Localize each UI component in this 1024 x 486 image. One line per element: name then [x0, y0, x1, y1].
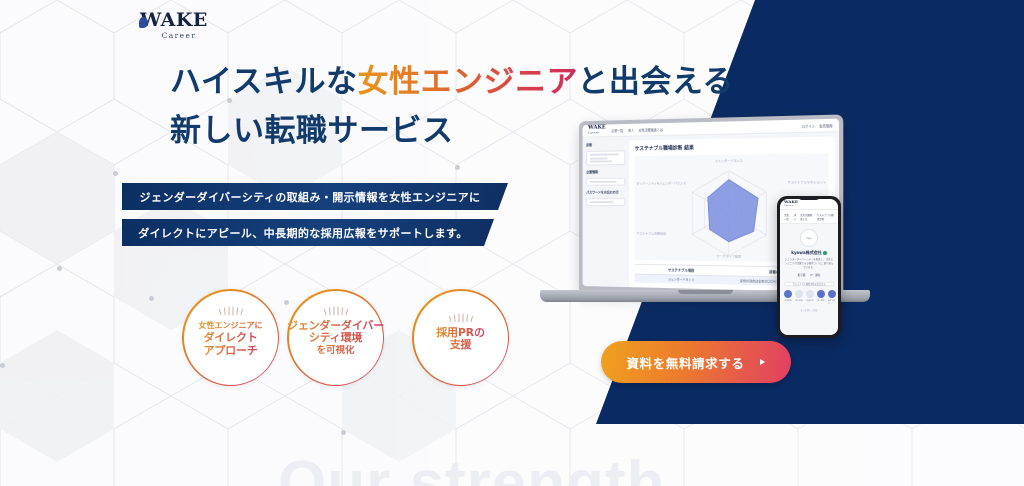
phone-icon-item[interactable]: 求人情報	[795, 290, 803, 305]
sparkle-icon	[218, 306, 244, 317]
banner-message-2: ダイレクトにアピール、中長期的な採用広報をサポートします。	[122, 219, 494, 246]
company-name: kyowa株式会社	[791, 250, 826, 256]
dashboard-nav-item[interactable]: 企業一覧	[611, 127, 623, 132]
phone-icon-label: 求人情報	[795, 299, 802, 302]
radar-axis-label: サステナブル労務環境	[637, 230, 666, 235]
phone-nav-items: 企業一覧 求人 女性活躍推進とは サステナブル職場診断	[780, 210, 838, 224]
headline-line1-pre: ハイスキルな	[170, 64, 357, 100]
hex-vertex-dot	[284, 300, 289, 305]
radar-axis-label: ワークライフ環境	[716, 253, 741, 258]
feature-circle-3[interactable]: 採用PRの 支援	[412, 289, 509, 386]
hex-vertex-dot	[0, 363, 5, 368]
dashboard-logo-sub: Career	[588, 130, 606, 135]
headline-accent: 女性エンジニア	[357, 64, 577, 100]
sidebar-line	[589, 201, 613, 203]
sparkle-icon	[448, 313, 474, 324]
sidebar-group-3-title: パスワードをお忘れの方	[586, 189, 625, 194]
dashboard-nav-item[interactable]: 女性活躍推進とは	[639, 127, 663, 132]
phone-nav-item[interactable]: 女性活躍推進とは	[800, 213, 814, 221]
phone-content: logo kyowa株式会社 ジェンダーダイバーシティを推進し、 女性エンジニア…	[780, 224, 838, 335]
cta-label: 資料を無料請求する	[627, 353, 745, 372]
dashboard-nav-item[interactable]: 求人	[628, 127, 634, 132]
radar-axis-label: ジェンダーバランス	[715, 157, 743, 162]
dashboard-sidebar: 診断 企業情報 パスワードをお忘れの方	[583, 137, 629, 288]
phone-icon-label: 社員の声	[806, 299, 813, 302]
company-tag: 東京都	[798, 273, 806, 277]
laptop-hinge-notch	[678, 290, 733, 294]
phone-logo-sub: Career	[784, 204, 798, 208]
phone-icon-row: 企業情報 求人情報 社員の声 働く環境 数字で見る	[784, 290, 834, 305]
hex-vertex-dot	[113, 171, 118, 176]
phone-nav-item[interactable]: 企業一覧	[784, 213, 791, 221]
diagnosis-status-bar: サステナブル職場診断を受診済み	[784, 282, 834, 286]
company-tags: 東京都 IT・通信	[798, 273, 821, 277]
hex-vertex-dot	[341, 430, 346, 435]
phone-icon-label: 数字で見る	[828, 299, 836, 305]
headline-line1-post: と出会える	[577, 64, 734, 100]
feature-2-line-2: シティ環境	[287, 332, 384, 345]
radar-axis-label: サステナブルマネジメント	[788, 179, 827, 184]
logo-tagline: Career	[140, 31, 218, 40]
phone-icon-label: 企業情報	[784, 299, 791, 302]
hex-vertex-dot	[455, 165, 460, 170]
dashboard-title: サステナブル職場診断 結果	[635, 142, 829, 152]
phone-icon-item[interactable]: 働く環境	[817, 290, 825, 305]
phone-logo: WAKE Career	[784, 200, 798, 208]
phone-icon-item[interactable]: 企業情報	[784, 290, 792, 305]
logo-blob-icon	[139, 17, 148, 28]
phone-footer-link[interactable]: もっと詳しく見る	[800, 308, 818, 312]
phone-mockup: WAKE Career 企業一覧 求人 女性活躍推進とは サステナブル職場診断 …	[777, 196, 841, 338]
sidebar-line	[589, 160, 612, 162]
play-arrow-icon	[760, 359, 765, 365]
sidebar-group-3-box[interactable]	[586, 198, 625, 206]
table-header-cell: サステナブル項目	[635, 267, 729, 274]
sidebar-line	[589, 153, 618, 155]
company-name-text: kyowa株式会社	[791, 250, 821, 256]
sidebar-group-2-box[interactable]	[586, 178, 625, 186]
headline-line-1: ハイスキルな女性エンジニアと出会える	[170, 58, 734, 107]
feature-3-line-2: 支援	[436, 339, 485, 352]
feature-1-line-2: ダイレクト	[199, 332, 263, 345]
sparkle-icon	[323, 306, 349, 317]
sidebar-group-1-box[interactable]	[586, 150, 625, 165]
watermark-text: Our strength	[278, 448, 665, 486]
verified-badge-icon	[823, 251, 827, 255]
company-avatar: logo	[800, 229, 818, 247]
dashboard-login-link[interactable]: ログイン	[802, 123, 815, 128]
logo-wordmark: WAKE	[140, 11, 218, 30]
dashboard-nav-items: 企業一覧 求人 女性活躍推進とは	[611, 127, 663, 133]
dashboard-logo: WAKE Career	[588, 125, 606, 135]
hero-section: Our strength WAKE Career ハイスキルな女性エンジニアと出…	[0, 0, 1024, 486]
sidebar-group-2-title: 企業情報	[586, 169, 625, 174]
feature-circle-2[interactable]: ジェンダーダイバー シティ環境 を可視化	[287, 289, 384, 386]
dashboard-register-link[interactable]: 会員登録	[819, 122, 832, 127]
environment-circle-icon	[817, 290, 825, 298]
banner-message-1: ジェンダーダイバーシティの取組み・開示情報を女性エンジニアに	[122, 183, 508, 210]
info-circle-icon	[784, 290, 792, 298]
phone-icon-item[interactable]: 数字で見る	[828, 290, 836, 305]
phone-nav-item[interactable]: 求人	[794, 213, 797, 221]
company-tag: IT・通信	[810, 273, 820, 277]
phone-nav-item[interactable]: サステナブル職場診断	[817, 213, 834, 221]
hex-vertex-dot	[57, 266, 62, 271]
jobs-circle-icon	[795, 290, 803, 298]
table-cell: ジェンダーバランス	[635, 277, 729, 283]
hex-vertex-dot	[149, 296, 154, 301]
feature-circle-1[interactable]: 女性エンジニアに ダイレクト アプローチ	[182, 289, 279, 386]
request-materials-button[interactable]: 資料を無料請求する	[601, 341, 791, 383]
voices-circle-icon	[806, 290, 814, 298]
phone-navbar: WAKE Career	[780, 199, 838, 210]
dashboard-nav-right: ログイン 会員登録	[802, 122, 833, 128]
phone-icon-label: 働く環境	[817, 299, 824, 302]
radar-axis-label: ダイバーシティ&ジェンダーバランス	[637, 181, 686, 186]
sidebar-group-1-title: 診断	[586, 142, 625, 148]
sidebar-line	[589, 181, 617, 183]
company-description: ジェンダーダイバーシティを推進し、 女性エンジニアが活躍できる職場づくりに 取り…	[784, 258, 834, 270]
numbers-circle-icon	[828, 290, 836, 298]
phone-notch	[798, 196, 820, 200]
phone-icon-item[interactable]: 社員の声	[806, 290, 814, 305]
site-logo[interactable]: WAKE Career	[140, 11, 218, 41]
sidebar-line	[589, 157, 607, 159]
feature-2-line-3: を可視化	[287, 345, 384, 358]
phone-screen: WAKE Career 企業一覧 求人 女性活躍推進とは サステナブル職場診断 …	[780, 199, 838, 335]
feature-1-line-3: アプローチ	[199, 345, 263, 358]
